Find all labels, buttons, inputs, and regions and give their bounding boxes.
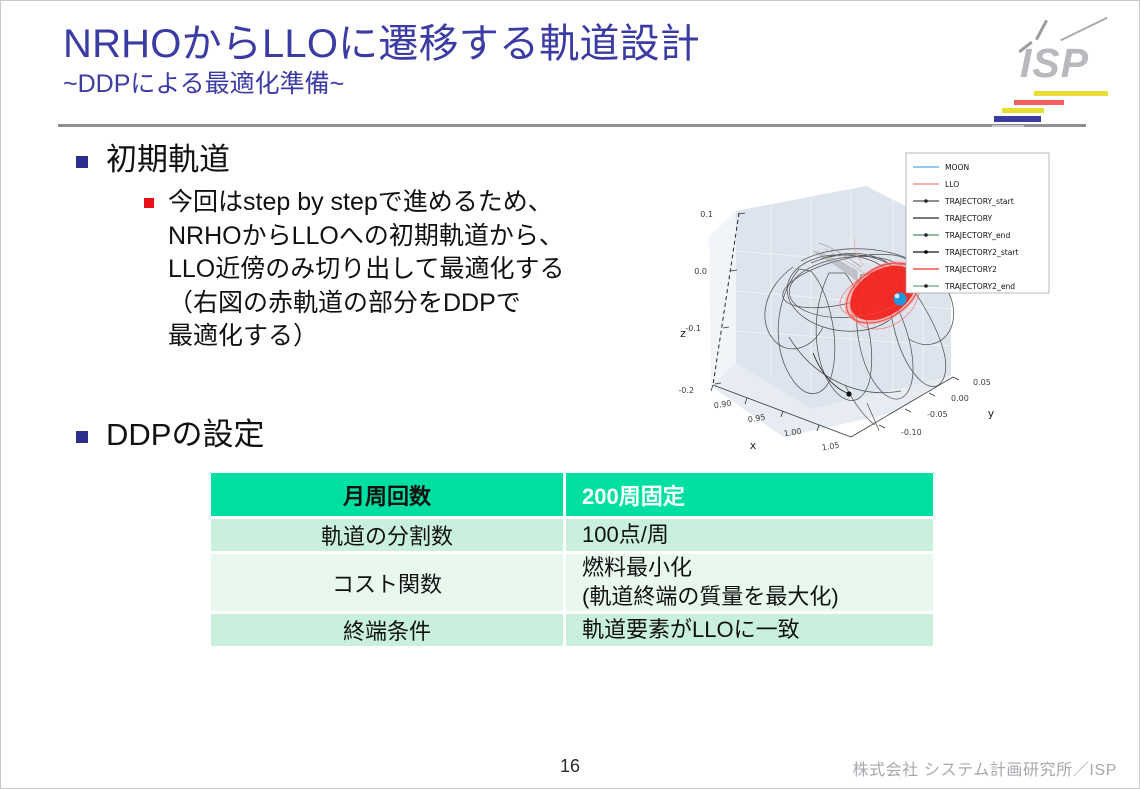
logo-slash-icon xyxy=(1060,17,1108,42)
svg-text:-0.2: -0.2 xyxy=(678,386,694,395)
table-cell-value: 燃料最小化 (軌道終端の質量を最大化) xyxy=(566,554,933,611)
svg-text:LLO: LLO xyxy=(945,180,959,189)
isp-wordmark: ISP xyxy=(1020,40,1089,87)
logo-bar-yellow xyxy=(1002,108,1044,113)
svg-text:TRAJECTORY2: TRAJECTORY2 xyxy=(944,265,997,274)
plot-legend: MOON LLO TRAJECTORY_start TRAJECTORY xyxy=(906,153,1049,293)
table-header-row: 月周回数 200周固定 xyxy=(211,473,933,516)
title-block: NRHOからLLOに遷移する軌道設計 ~DDPによる最適化準備~ xyxy=(63,23,700,100)
corporate-footer: 株式会社 システム計画研究所／ISP xyxy=(852,756,1117,780)
svg-text:-0.10: -0.10 xyxy=(901,428,922,437)
svg-text:0.05: 0.05 xyxy=(973,378,991,387)
svg-text:0.1: 0.1 xyxy=(700,210,713,219)
svg-text:y: y xyxy=(988,407,995,420)
logo-bar-red xyxy=(1014,100,1064,105)
logo-bar-yellow xyxy=(1034,91,1108,96)
table-cell-key: コスト関数 xyxy=(211,554,566,611)
sub-bullet-line: 今回はstep by stepで進めるため、 xyxy=(168,186,565,220)
svg-text:0.00: 0.00 xyxy=(951,394,969,403)
bullet-initial-orbit-label: 初期軌道 xyxy=(106,141,230,180)
slide: NRHOからLLOに遷移する軌道設計 ~DDPによる最適化準備~ ISP 初期軌… xyxy=(0,0,1140,789)
svg-text:TRAJECTORY_end: TRAJECTORY_end xyxy=(944,231,1010,240)
orbit-plot-figure: 0.1 0.0 -0.1 -0.2 z 0.90 0.95 1.00 1.05 … xyxy=(661,141,1061,471)
orbit-plot-svg: 0.1 0.0 -0.1 -0.2 z 0.90 0.95 1.00 1.05 … xyxy=(661,141,1061,471)
ddp-settings-table: 月周回数 200周固定 軌道の分割数 100点/周 コスト関数 燃料最小化 (軌… xyxy=(211,473,933,646)
bullet-ddp-settings-label: DDPの設定 xyxy=(106,416,264,455)
table-cell-key: 終端条件 xyxy=(211,614,566,646)
isp-logo: ISP xyxy=(996,13,1124,125)
svg-text:MOON: MOON xyxy=(945,163,969,172)
svg-text:TRAJECTORY2_end: TRAJECTORY2_end xyxy=(944,282,1015,291)
svg-text:1.05: 1.05 xyxy=(821,441,840,453)
table-cell-value: 100点/周 xyxy=(566,519,933,551)
page-title: NRHOからLLOに遷移する軌道設計 xyxy=(63,23,700,66)
bullet-square-icon xyxy=(76,431,88,443)
bullet-initial-orbit: 初期軌道 xyxy=(76,141,230,180)
table-header-key: 月周回数 xyxy=(211,473,566,516)
svg-text:TRAJECTORY: TRAJECTORY xyxy=(944,214,993,223)
table-cell-line: 燃料最小化 xyxy=(582,554,933,583)
sub-bullet-line: （右図の赤軌道の部分をDDPで xyxy=(168,287,565,321)
page-subtitle: ~DDPによる最適化準備~ xyxy=(63,70,700,100)
sub-bullet-line: NRHOからLLOへの初期軌道から、 xyxy=(168,220,565,254)
bullet-ddp-settings: DDPの設定 xyxy=(76,416,264,455)
table-header-value: 200周固定 xyxy=(566,473,933,516)
sub-bullet-text: 今回はstep by stepで進めるため、 NRHOからLLOへの初期軌道から… xyxy=(168,186,565,354)
svg-text:TRAJECTORY2_start: TRAJECTORY2_start xyxy=(944,248,1019,257)
sub-bullet-line: LLO近傍のみ切り出して最適化する xyxy=(168,253,565,287)
svg-text:-0.05: -0.05 xyxy=(927,410,948,419)
moon-highlight xyxy=(895,294,900,299)
table-row: 終端条件 軌道要素がLLOに一致 xyxy=(211,614,933,646)
sub-bullet-line: 最適化する） xyxy=(168,320,565,354)
table-cell-line: 軌道要素がLLOに一致 xyxy=(582,616,933,645)
table-cell-key: 軌道の分割数 xyxy=(211,519,566,551)
table-row: 軌道の分割数 100点/周 xyxy=(211,519,933,551)
svg-text:TRAJECTORY_start: TRAJECTORY_start xyxy=(944,197,1014,206)
table-cell-line: 100点/周 xyxy=(582,521,933,550)
logo-slash-icon xyxy=(1035,20,1048,41)
logo-bar-blue xyxy=(994,116,1041,122)
trajectory2-start-marker xyxy=(846,391,851,396)
svg-text:1.00: 1.00 xyxy=(783,427,802,439)
sub-bullet-initial-orbit: 今回はstep by stepで進めるため、 NRHOからLLOへの初期軌道から… xyxy=(144,186,565,354)
svg-text:-0.1: -0.1 xyxy=(685,324,701,333)
logo-bar-gray xyxy=(992,125,1024,127)
bullet-square-icon xyxy=(144,198,154,208)
table-cell-line: (軌道終端の質量を最大化) xyxy=(582,583,933,612)
svg-text:z: z xyxy=(680,327,686,340)
svg-text:0.90: 0.90 xyxy=(713,399,732,411)
svg-text:0.0: 0.0 xyxy=(694,267,707,276)
header-divider xyxy=(58,124,1086,127)
table-cell-value: 軌道要素がLLOに一致 xyxy=(566,614,933,646)
svg-text:x: x xyxy=(750,439,757,452)
bullet-square-icon xyxy=(76,156,88,168)
table-row: コスト関数 燃料最小化 (軌道終端の質量を最大化) xyxy=(211,554,933,611)
